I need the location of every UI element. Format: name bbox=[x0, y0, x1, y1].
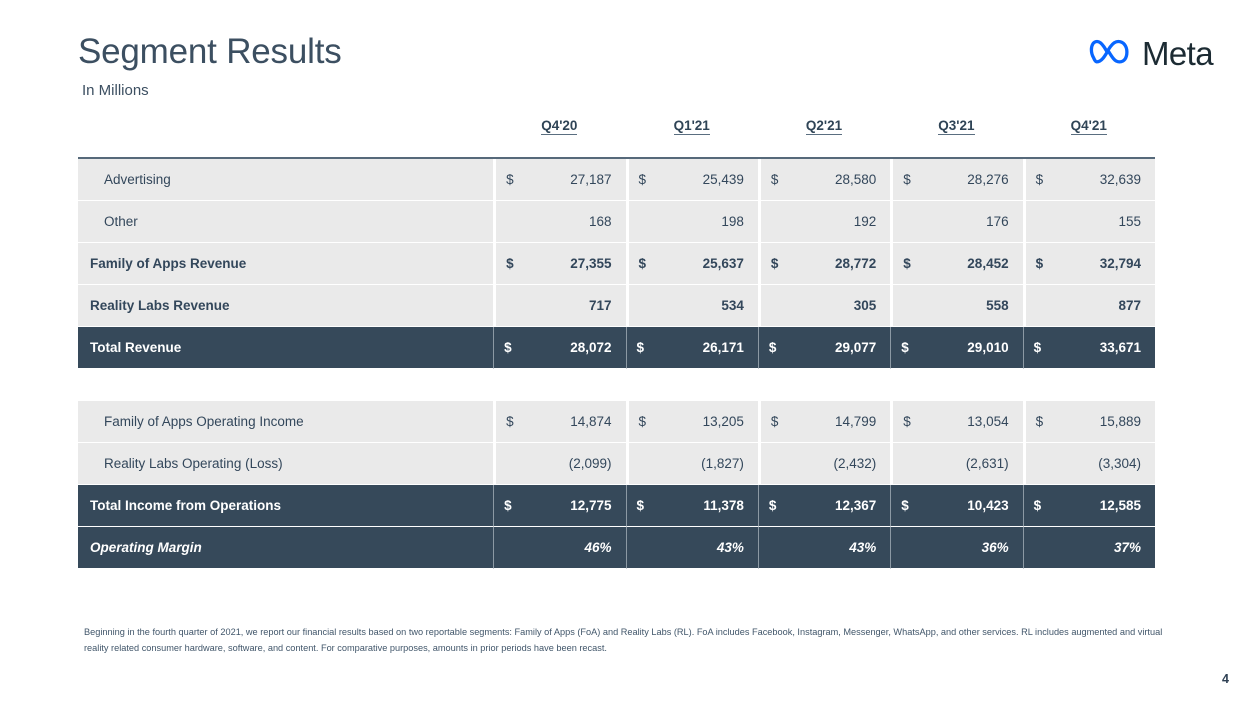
cell-value: 36% bbox=[890, 527, 1022, 569]
cell-value: (2,099) bbox=[493, 443, 625, 485]
cell-value: 558 bbox=[890, 285, 1022, 327]
cell-value: 155 bbox=[1023, 201, 1155, 243]
currency-symbol: $ bbox=[1034, 340, 1042, 355]
cell-value: $13,205 bbox=[626, 401, 758, 443]
segment-results-table-wrapper: Q4'20 Q1'21 Q2'21 Q3'21 Q4'21 Advertisin… bbox=[78, 118, 1155, 569]
cell-value: $26,171 bbox=[626, 327, 758, 369]
row-label: Reality Labs Operating (Loss) bbox=[78, 443, 493, 485]
row-label: Advertising bbox=[78, 159, 493, 201]
cell-value: 37% bbox=[1023, 527, 1155, 569]
cell-value: $28,452 bbox=[890, 243, 1022, 285]
table-body: Advertising$27,187$25,439$28,580$28,276$… bbox=[78, 157, 1155, 569]
cell-value: $14,799 bbox=[758, 401, 890, 443]
cell-value: (1,827) bbox=[626, 443, 758, 485]
cell-value: 43% bbox=[758, 527, 890, 569]
meta-wordmark: Meta bbox=[1142, 37, 1213, 70]
currency-symbol: $ bbox=[901, 498, 909, 513]
currency-symbol: $ bbox=[1034, 498, 1042, 513]
table-row: Family of Apps Revenue$27,355$25,637$28,… bbox=[78, 243, 1155, 285]
cell-value: $12,367 bbox=[758, 485, 890, 527]
cell-value: $28,580 bbox=[758, 159, 890, 201]
table-header-row: Q4'20 Q1'21 Q2'21 Q3'21 Q4'21 bbox=[78, 118, 1155, 157]
column-header-q321: Q3'21 bbox=[890, 118, 1022, 157]
cell-value: $28,072 bbox=[493, 327, 625, 369]
page-subtitle: In Millions bbox=[82, 82, 149, 99]
row-label: Operating Margin bbox=[78, 527, 493, 569]
cell-value: 43% bbox=[626, 527, 758, 569]
cell-value: (2,432) bbox=[758, 443, 890, 485]
cell-value: 717 bbox=[493, 285, 625, 327]
cell-value: 192 bbox=[758, 201, 890, 243]
table-spacer-row bbox=[78, 369, 1155, 401]
row-label: Reality Labs Revenue bbox=[78, 285, 493, 327]
cell-value: $12,585 bbox=[1023, 485, 1155, 527]
currency-symbol: $ bbox=[1036, 256, 1044, 271]
cell-value: 176 bbox=[890, 201, 1022, 243]
cell-value: $32,639 bbox=[1023, 159, 1155, 201]
page-title: Segment Results bbox=[78, 32, 342, 72]
table-row: Family of Apps Operating Income$14,874$1… bbox=[78, 401, 1155, 443]
currency-symbol: $ bbox=[901, 340, 909, 355]
cell-value: 877 bbox=[1023, 285, 1155, 327]
currency-symbol: $ bbox=[903, 414, 911, 429]
cell-value: $27,355 bbox=[493, 243, 625, 285]
cell-value: $13,054 bbox=[890, 401, 1022, 443]
currency-symbol: $ bbox=[903, 172, 911, 187]
cell-value: $32,794 bbox=[1023, 243, 1155, 285]
page-number: 4 bbox=[1222, 672, 1229, 686]
footnote: Beginning in the fourth quarter of 2021,… bbox=[84, 624, 1174, 656]
table-row: Total Income from Operations$12,775$11,3… bbox=[78, 485, 1155, 527]
currency-symbol: $ bbox=[771, 414, 779, 429]
cell-value: $29,010 bbox=[890, 327, 1022, 369]
column-header-q121: Q1'21 bbox=[626, 118, 758, 157]
currency-symbol: $ bbox=[639, 172, 647, 187]
currency-symbol: $ bbox=[506, 256, 514, 271]
cell-value: $25,637 bbox=[626, 243, 758, 285]
currency-symbol: $ bbox=[1036, 172, 1044, 187]
currency-symbol: $ bbox=[1036, 414, 1044, 429]
cell-value: (2,631) bbox=[890, 443, 1022, 485]
currency-symbol: $ bbox=[504, 498, 512, 513]
currency-symbol: $ bbox=[639, 414, 647, 429]
currency-symbol: $ bbox=[504, 340, 512, 355]
currency-symbol: $ bbox=[769, 340, 777, 355]
currency-symbol: $ bbox=[771, 172, 779, 187]
cell-value: $11,378 bbox=[626, 485, 758, 527]
slide: Segment Results In Millions Meta Q4'20 Q… bbox=[0, 0, 1259, 707]
table-row: Total Revenue$28,072$26,171$29,077$29,01… bbox=[78, 327, 1155, 369]
meta-logo: Meta bbox=[1089, 36, 1213, 71]
cell-value: $14,874 bbox=[493, 401, 625, 443]
cell-value: $28,772 bbox=[758, 243, 890, 285]
currency-symbol: $ bbox=[639, 256, 647, 271]
row-label: Total Income from Operations bbox=[78, 485, 493, 527]
currency-symbol: $ bbox=[637, 340, 645, 355]
meta-infinity-icon bbox=[1089, 36, 1133, 71]
column-header-label bbox=[78, 118, 493, 157]
cell-value: 534 bbox=[626, 285, 758, 327]
cell-value: $12,775 bbox=[493, 485, 625, 527]
row-label: Other bbox=[78, 201, 493, 243]
cell-value: (3,304) bbox=[1023, 443, 1155, 485]
table-row: Other168198192176155 bbox=[78, 201, 1155, 243]
cell-value: 46% bbox=[493, 527, 625, 569]
cell-value: $25,439 bbox=[626, 159, 758, 201]
table-row: Reality Labs Revenue717534305558877 bbox=[78, 285, 1155, 327]
currency-symbol: $ bbox=[506, 414, 514, 429]
cell-value: $29,077 bbox=[758, 327, 890, 369]
table-row: Advertising$27,187$25,439$28,580$28,276$… bbox=[78, 159, 1155, 201]
currency-symbol: $ bbox=[506, 172, 514, 187]
column-header-q221: Q2'21 bbox=[758, 118, 890, 157]
segment-results-table: Q4'20 Q1'21 Q2'21 Q3'21 Q4'21 Advertisin… bbox=[78, 118, 1155, 569]
column-header-q420: Q4'20 bbox=[493, 118, 625, 157]
table-header: Q4'20 Q1'21 Q2'21 Q3'21 Q4'21 bbox=[78, 118, 1155, 157]
cell-value: $27,187 bbox=[493, 159, 625, 201]
currency-symbol: $ bbox=[637, 498, 645, 513]
row-label: Family of Apps Revenue bbox=[78, 243, 493, 285]
cell-value: 305 bbox=[758, 285, 890, 327]
table-row: Operating Margin46%43%43%36%37% bbox=[78, 527, 1155, 569]
cell-value: 198 bbox=[626, 201, 758, 243]
cell-value: $10,423 bbox=[890, 485, 1022, 527]
currency-symbol: $ bbox=[769, 498, 777, 513]
cell-value: $28,276 bbox=[890, 159, 1022, 201]
column-header-q421: Q4'21 bbox=[1023, 118, 1155, 157]
row-label: Total Revenue bbox=[78, 327, 493, 369]
cell-value: 168 bbox=[493, 201, 625, 243]
currency-symbol: $ bbox=[903, 256, 911, 271]
cell-value: $33,671 bbox=[1023, 327, 1155, 369]
row-label: Family of Apps Operating Income bbox=[78, 401, 493, 443]
table-row: Reality Labs Operating (Loss)(2,099)(1,8… bbox=[78, 443, 1155, 485]
currency-symbol: $ bbox=[771, 256, 779, 271]
cell-value: $15,889 bbox=[1023, 401, 1155, 443]
